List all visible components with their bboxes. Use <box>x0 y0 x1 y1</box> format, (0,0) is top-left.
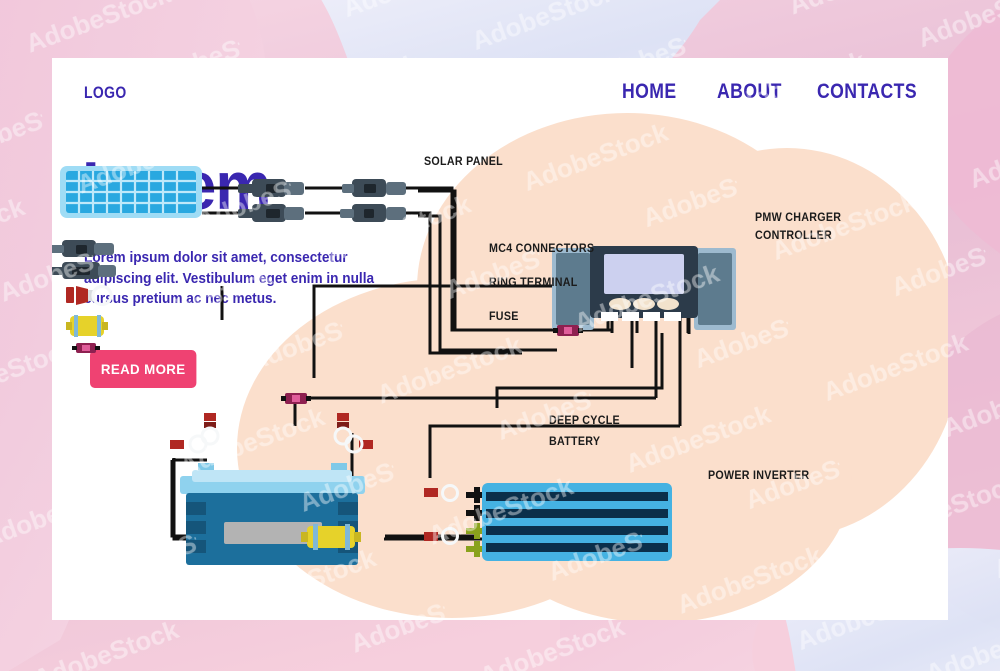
label-solar-panel: SOLAR PANEL <box>424 156 503 168</box>
label-power-inverter: POWER INVERTER <box>708 470 809 482</box>
label-ring-terminal: RING TERMINAL <box>489 277 578 289</box>
solar-system-diagram: . <box>52 58 948 620</box>
legend-icon-mc4-b <box>52 262 116 279</box>
inline-fuse-bottom <box>301 524 361 550</box>
ring-terminal-battery-pos-side <box>170 436 206 452</box>
page-card: LOGO HOME ABOUT CONTACTS Lorem Lorem ips… <box>52 58 948 620</box>
label-battery-line2: BATTERY <box>549 436 600 448</box>
legend-icon-inline-fuse <box>72 343 100 353</box>
label-pmw-charger-line1: PMW CHARGER <box>755 212 841 224</box>
legend-icon-ring-terminal <box>66 286 111 305</box>
label-fuse: FUSE <box>489 311 519 323</box>
inline-fuse-battery-line <box>281 393 311 404</box>
power-inverter-component <box>482 483 672 561</box>
label-mc4-connectors: MC4 CONNECTORS <box>489 243 594 255</box>
mc4-connector-inline-4 <box>340 204 406 222</box>
legend-icon-fuse <box>66 315 108 337</box>
solar-panel-component <box>60 166 202 218</box>
label-pmw-charger-line2: CONTROLLER <box>755 230 832 242</box>
inline-fuse-controller <box>553 325 583 336</box>
label-battery-line1: DEEP CYCLE <box>549 415 620 427</box>
mc4-connector-inline-3 <box>238 204 304 222</box>
mc4-connector-inline-1 <box>238 179 304 197</box>
pmw-charger-controller-component <box>552 246 736 330</box>
legend-icon-mc4-a <box>52 240 114 257</box>
deep-cycle-battery-component <box>180 463 365 565</box>
mc4-connector-inline-2 <box>342 179 406 197</box>
